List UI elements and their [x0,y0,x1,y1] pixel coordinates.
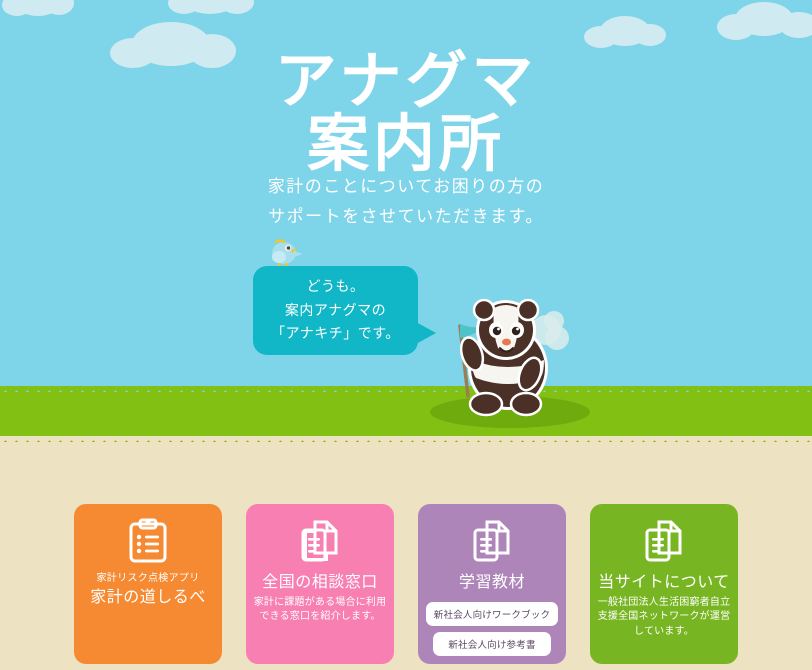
badger-mascot-icon [438,288,578,420]
page-root: アナグマ 案内所 家計のことについてお困りの方の サポートをさせていただきます。… [0,0,812,670]
reference-book-button[interactable]: 新社会人向け参考書 [433,632,551,656]
page-title-line-2: 案内所 [0,113,812,176]
card-tou-site-ni-tsuite[interactable]: 当サイトについて 一般社団法人生活困窮者自立支援全国ネットワークが運営しています… [590,504,738,664]
speech-line-3: 「アナキチ」です。 [271,322,400,346]
cloud-icon [735,2,793,36]
grass-zigzag-top-edge [0,386,812,395]
page-subtitle-line-1: 家計のことについてお困りの方の [0,172,812,202]
documents-icon [643,518,685,564]
card-grid: 家計リスク点検アプリ 家計の道しるべ 全国の相談窓口 家計に課題がある場合に利用… [0,504,812,670]
card-description: 一般社団法人生活困窮者自立支援全国ネットワークが運営しています。 [590,596,738,640]
cloud-icon [600,16,650,46]
sand-zigzag-top-edge [0,436,812,445]
page-title-line-1: アナグマ [0,50,812,113]
card-title: 全国の相談窓口 [262,572,378,594]
card-title: 当サイトについて [598,572,730,594]
bird-icon [264,232,304,270]
speech-line-2: 案内アナグマの [285,299,386,323]
cloud-icon [14,0,62,16]
card-zenkoku-no-soudan-madoguchi[interactable]: 全国の相談窓口 家計に課題がある場合に利用できる窓口を紹介します。 [246,504,394,664]
page-subtitle-line-2: サポートをさせていただきます。 [0,202,812,232]
speech-line-1: どうも。 [307,275,365,299]
card-title: 学習教材 [459,572,525,594]
card-description: 家計に課題がある場合に利用できる窓口を紹介します。 [246,596,394,625]
card-title: 家計の道しるべ [90,587,206,609]
cloud-icon [182,0,238,14]
card-kakei-no-michishirube[interactable]: 家計リスク点検アプリ 家計の道しるべ [74,504,222,664]
page-title: アナグマ 案内所 [0,50,812,176]
documents-icon [471,518,513,564]
documents-icon [299,518,341,564]
card-gakushu-kyozai[interactable]: 学習教材 新社会人向けワークブック 新社会人向け参考書 [418,504,566,664]
clipboard-checklist-icon [127,518,169,564]
card-kicker: 家計リスク点検アプリ [97,572,200,585]
card-button-group: 新社会人向けワークブック 新社会人向け参考書 [426,602,558,656]
speech-bubble-tail [416,322,436,344]
page-subtitle: 家計のことについてお困りの方の サポートをさせていただきます。 [0,172,812,232]
mascot-speech-bubble: どうも。 案内アナグマの 「アナキチ」です。 [253,266,418,355]
workbook-button[interactable]: 新社会人向けワークブック [426,602,558,626]
